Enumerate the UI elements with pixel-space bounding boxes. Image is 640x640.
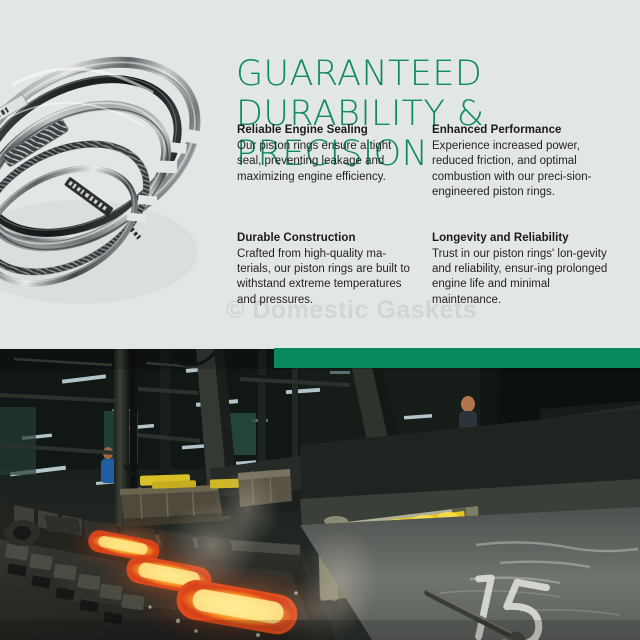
feature-item-reliable-engine-sealing: Reliable Engine Sealing Our piston rings… bbox=[237, 122, 432, 201]
feature-grid: Reliable Engine Sealing Our piston rings… bbox=[237, 122, 627, 308]
feature-title: Longevity and Reliability bbox=[432, 230, 619, 246]
feature-body: Crafted from high-quality ma-terials, ou… bbox=[237, 247, 418, 309]
green-accent-bar bbox=[274, 348, 640, 368]
feature-item-enhanced-performance: Enhanced Performance Experience increase… bbox=[432, 122, 627, 201]
infographic-page: GUARANTEED DURABILITY & PRECISION © Dome… bbox=[0, 0, 640, 640]
piston-rings-product-photo bbox=[0, 0, 234, 340]
feature-title: Durable Construction bbox=[237, 230, 418, 246]
feature-item-longevity-and-reliability: Longevity and Reliability Trust in our p… bbox=[432, 230, 627, 309]
feature-title: Reliable Engine Sealing bbox=[237, 122, 418, 138]
foundry-forging-photo bbox=[0, 349, 640, 640]
page-title-line-1: GUARANTEED bbox=[236, 54, 636, 94]
feature-item-durable-construction: Durable Construction Crafted from high-q… bbox=[237, 230, 432, 309]
feature-title: Enhanced Performance bbox=[432, 122, 619, 138]
feature-row-2: Durable Construction Crafted from high-q… bbox=[237, 230, 627, 309]
feature-body: Experience increased power, reduced fric… bbox=[432, 139, 619, 201]
top-content-section: GUARANTEED DURABILITY & PRECISION © Dome… bbox=[0, 0, 640, 349]
feature-row-1: Reliable Engine Sealing Our piston rings… bbox=[237, 122, 627, 201]
feature-body: Trust in our piston rings' lon-gevity an… bbox=[432, 247, 619, 309]
feature-body: Our piston rings ensure a tight seal, pr… bbox=[237, 139, 418, 185]
